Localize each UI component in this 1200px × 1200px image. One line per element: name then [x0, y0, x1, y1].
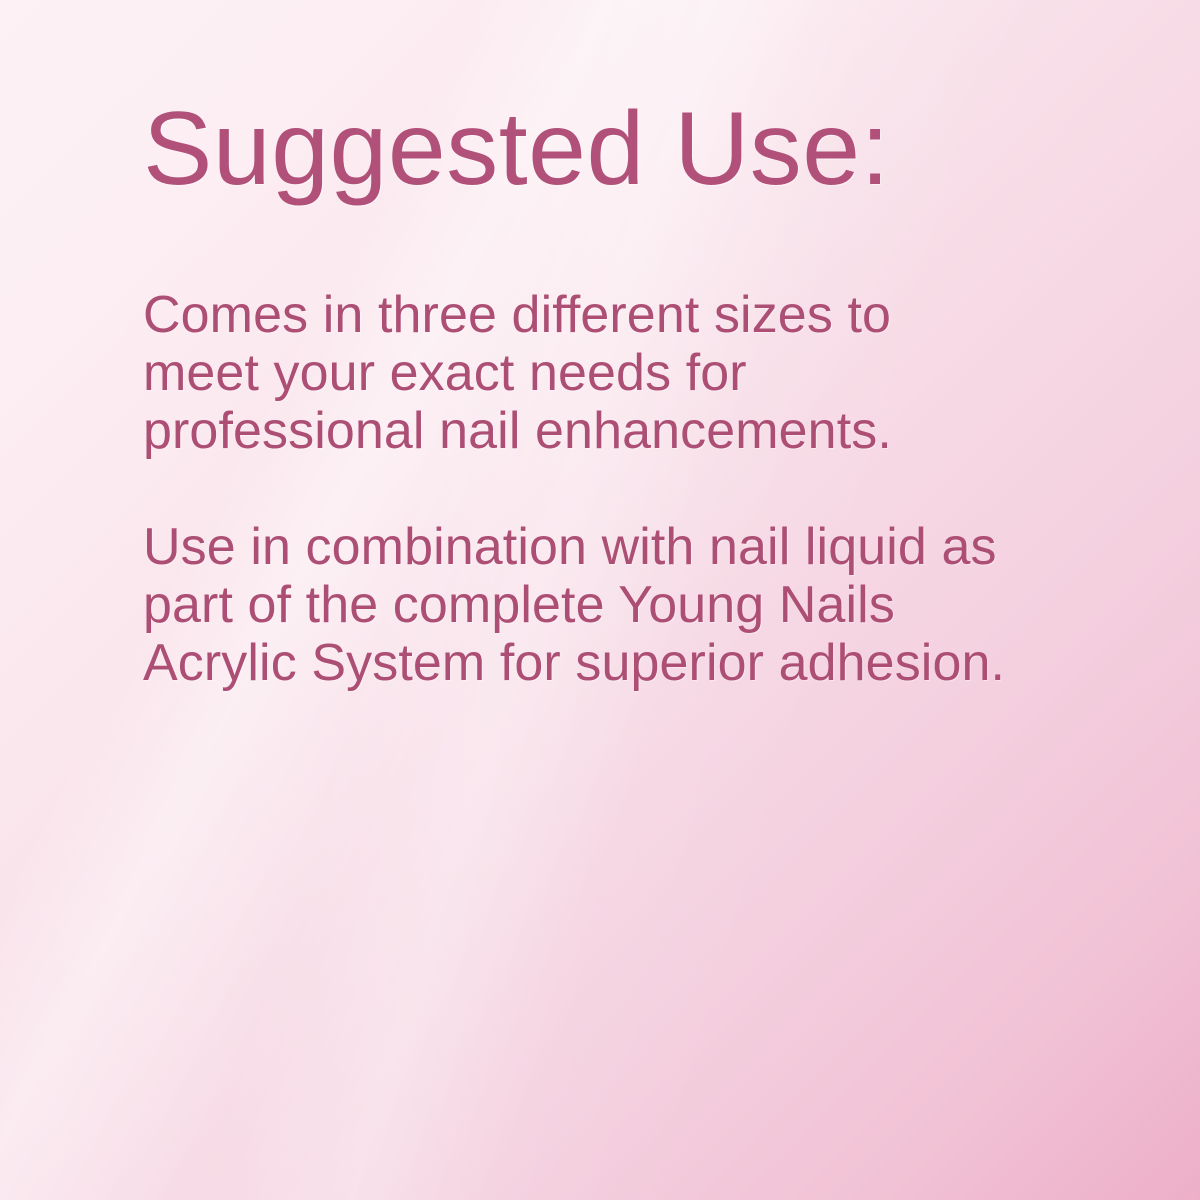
product-info-card: Suggested Use: Comes in three different … — [0, 0, 1200, 1200]
paragraph-system: Use in combination with nail liquid as p… — [143, 518, 1013, 692]
paragraph-sizes: Comes in three different sizes to meet y… — [143, 286, 1013, 460]
body-copy: Comes in three different sizes to meet y… — [143, 286, 1043, 692]
content-block: Suggested Use: Comes in three different … — [143, 96, 1043, 692]
page-title: Suggested Use: — [143, 96, 1043, 202]
